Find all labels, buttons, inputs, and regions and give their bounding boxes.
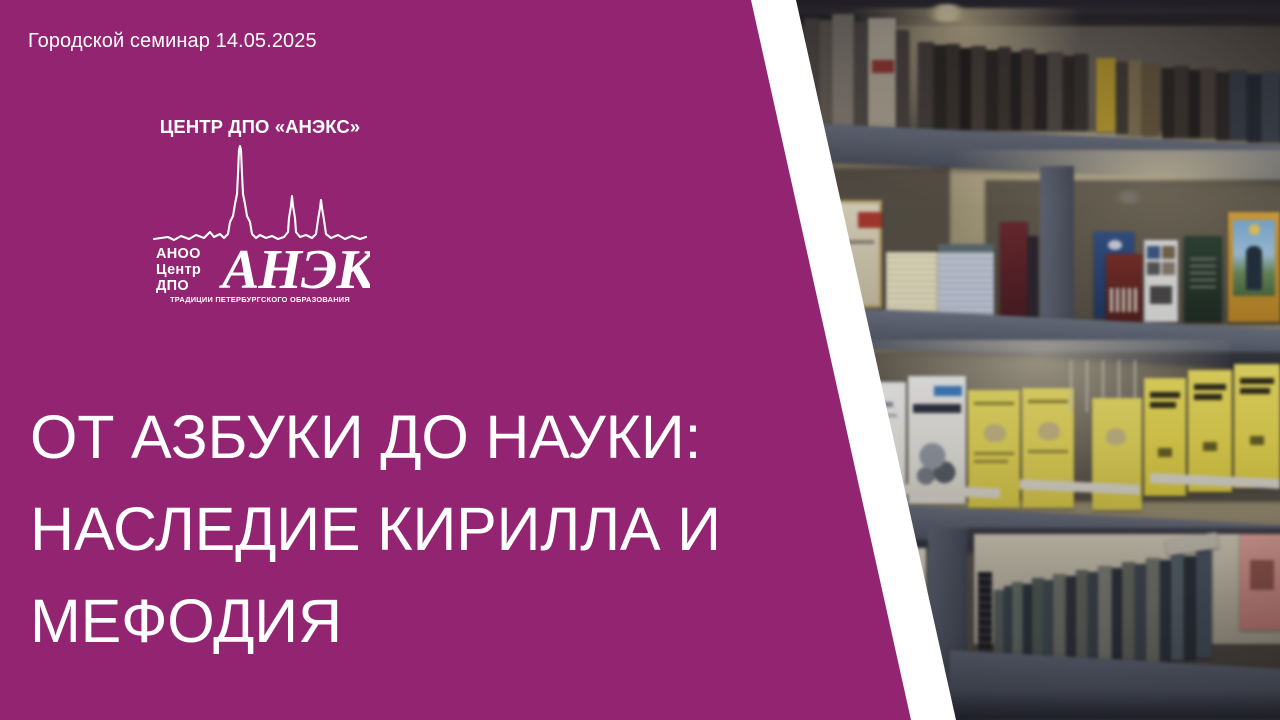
paper-stack-cream (886, 252, 944, 318)
book-spine (819, 20, 832, 128)
digest-wordmark (913, 404, 961, 413)
book-spine (998, 47, 1011, 130)
pedagogy-title (1194, 384, 1226, 390)
book-spine (1021, 49, 1035, 130)
book-cover-pink-art (1250, 560, 1274, 590)
certificate-red-badge (858, 212, 882, 228)
book-spine (986, 50, 998, 130)
logo-org-line-1: АНОО (156, 246, 201, 262)
document-red-mark (872, 60, 894, 73)
book-spine (1229, 70, 1247, 140)
book-spine (1261, 72, 1280, 142)
book-spine (1112, 568, 1122, 666)
yellow-booklet-emblem (1038, 422, 1060, 440)
yellow-booklet-text (974, 452, 1014, 455)
book-spine (934, 45, 946, 130)
book-spine (1160, 560, 1171, 662)
pedagogy-number (1250, 436, 1264, 445)
book-spine (971, 46, 986, 130)
yellow-booklet-text (974, 460, 1008, 463)
book-cover-figures (1110, 288, 1138, 312)
pedagogy-title (1240, 388, 1270, 394)
shelf-divider-post (1040, 166, 1074, 336)
digest-art-gray (914, 434, 960, 492)
book-spine (1047, 52, 1063, 130)
photo-thumb (1162, 246, 1175, 259)
book-spine (1074, 54, 1088, 130)
book-spine (832, 14, 854, 128)
book-spine (1011, 52, 1021, 130)
page-title-line-1: ОТ АЗБУКИ ДО НАУКИ: (30, 391, 720, 483)
logo-org-lines: АНОО Центр ДПО (156, 246, 201, 294)
logo-mark-svg: АНОО Центр ДПО АНЭКС ТРАДИЦИИ ПЕТЕРБУРГС… (150, 144, 370, 306)
pedagogy-title (1150, 402, 1176, 408)
book-spine (896, 30, 909, 128)
photo-thumb (1150, 286, 1172, 304)
book-spine (854, 22, 868, 128)
anex-logo: ЦЕНТР ДПО «АНЭКС» АНОО Центр ДПО АНЭКС (150, 116, 370, 306)
book-spine (1171, 554, 1184, 660)
yellow-booklet-emblem (1106, 428, 1126, 445)
book-spine (1098, 566, 1112, 666)
photo-thumb (1147, 246, 1160, 259)
book-spine (1135, 564, 1146, 664)
photo-thumb (1147, 262, 1160, 275)
pedagogy-title (1194, 394, 1222, 400)
book-spine (1076, 570, 1088, 668)
book-spine (1035, 54, 1047, 130)
book-spine (946, 44, 960, 130)
shelf-document (868, 18, 896, 128)
page-title: ОТ АЗБУКИ ДО НАУКИ: НАСЛЕДИЕ КИРИЛЛА И М… (30, 391, 720, 667)
book-spine (1142, 64, 1160, 136)
seminar-date-label: Городской семинар 14.05.2025 (28, 29, 317, 53)
book-spine (918, 42, 934, 130)
book-spine (1216, 72, 1229, 140)
book-spine (1088, 572, 1098, 668)
digest-banner (934, 386, 962, 396)
book-spine (1196, 550, 1212, 658)
book-spine (1247, 74, 1261, 142)
yellow-booklet-text (974, 402, 1014, 405)
pedagogy-title (1240, 378, 1274, 384)
book-spine (1189, 70, 1200, 138)
book-spine (1063, 56, 1074, 130)
page-title-line-2: НАСЛЕДИЕ КИРИЛЛА И (30, 483, 720, 575)
book-spine-yellow (1096, 58, 1116, 132)
logo-org-line-2: Центр (156, 262, 201, 278)
book-spine (1162, 68, 1174, 138)
book-spine (1146, 558, 1160, 662)
book-spine (1128, 60, 1142, 135)
logo-wordmark: АНЭКС (219, 239, 370, 301)
yellow-booklet-emblem (984, 424, 1006, 442)
book-spine-maroon (1000, 222, 1028, 318)
book-spine (1174, 66, 1189, 138)
book-spine (960, 48, 971, 130)
book-spine (1116, 62, 1128, 134)
pedagogy-title (1150, 392, 1180, 398)
book-spine (1184, 556, 1196, 660)
book-cover-sun (1249, 224, 1260, 235)
yellow-booklet-text (1028, 400, 1068, 403)
logo-org-line-3: ДПО (156, 278, 189, 294)
photo-thumb (1162, 262, 1175, 275)
peter-and-paul-cathedral-skyline-icon (154, 146, 366, 240)
yellow-booklet-text (1028, 450, 1068, 453)
book-cover-emblem (1108, 240, 1122, 250)
logo-caption: ЦЕНТР ДПО «АНЭКС» (150, 116, 370, 138)
page-title-line-3: МЕФОДИЯ (30, 575, 720, 667)
paper-stack-top (938, 244, 994, 252)
logo-tagline: ТРАДИЦИИ ПЕТЕРБУРГСКОГО ОБРАЗОВАНИЯ (170, 295, 350, 304)
pedagogy-number (1158, 448, 1172, 457)
book-spine (1028, 236, 1038, 318)
book-spine (1122, 562, 1135, 664)
book-spine (1200, 68, 1216, 138)
title-slide: Городской семинар 14.05.2025 ЦЕНТР ДПО «… (0, 0, 1280, 720)
book-cover-figure (1246, 246, 1262, 290)
pedagogy-number (1203, 442, 1217, 451)
book-spine-lines (1190, 258, 1216, 288)
logo-mark: АНОО Центр ДПО АНЭКС ТРАДИЦИИ ПЕТЕРБУРГС… (150, 144, 370, 306)
